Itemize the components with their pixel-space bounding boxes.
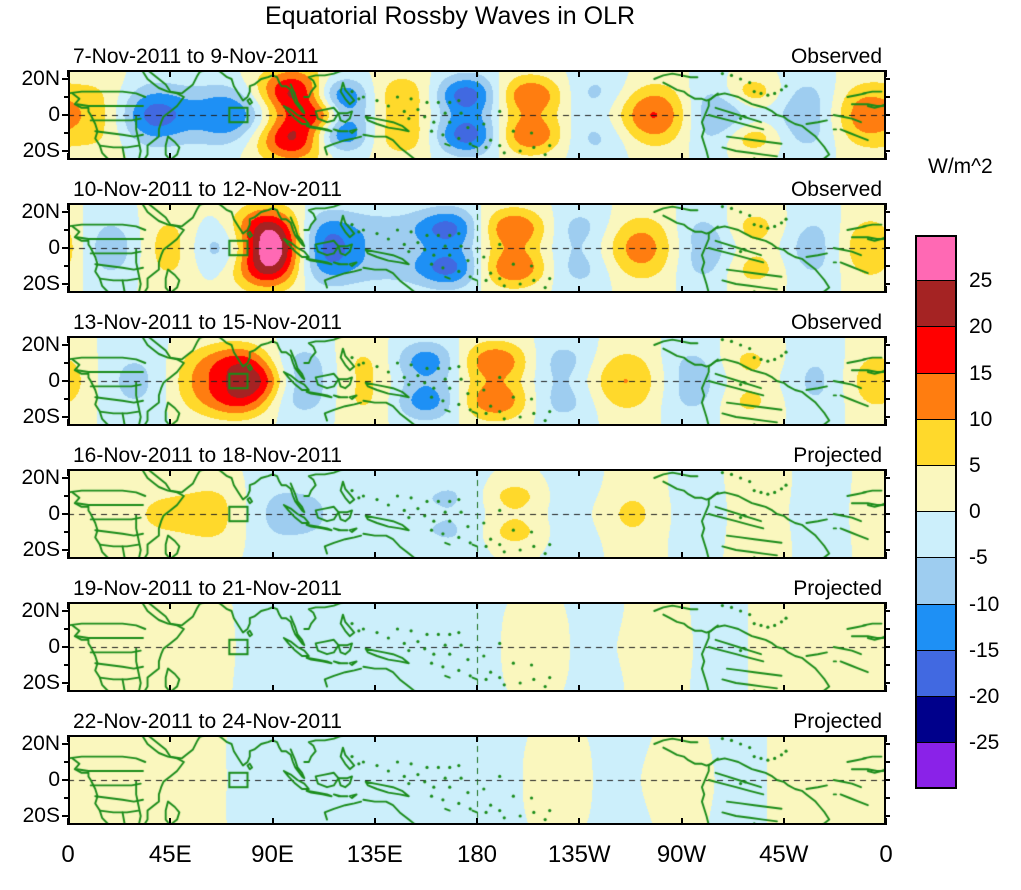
- x-axis-tick: [578, 735, 580, 742]
- y-axis-minor-tick: [64, 761, 69, 763]
- x-axis-tick: [67, 286, 69, 293]
- colorbar-swatch: [915, 420, 957, 466]
- x-axis-tick: [885, 735, 887, 742]
- x-axis-tick: [885, 469, 887, 476]
- y-axis-minor-tick: [885, 610, 890, 612]
- x-axis-tick: [272, 602, 274, 609]
- x-axis-tick: [578, 602, 580, 609]
- x-axis-tick: [169, 70, 171, 77]
- y-axis-minor-tick: [64, 247, 69, 249]
- y-axis-tick-label: 20N: [0, 733, 60, 754]
- colorbar-swatch: [915, 512, 957, 558]
- x-axis-tick: [681, 286, 683, 293]
- x-axis-tick: [578, 818, 580, 825]
- y-axis-minor-tick: [885, 513, 890, 515]
- x-axis-tick: [885, 336, 887, 343]
- y-axis-minor-tick: [885, 229, 890, 231]
- figure-root: Equatorial Rossby Waves in OLR 045E90E13…: [0, 0, 1021, 890]
- y-axis-minor-tick: [64, 779, 69, 781]
- colorbar-tick-label: -25: [969, 732, 999, 753]
- x-axis-tick: [681, 818, 683, 825]
- x-axis-tick: [67, 602, 69, 609]
- x-axis-tick: [476, 602, 478, 609]
- x-axis-tick: [374, 203, 376, 210]
- colorbar-swatch: [915, 466, 957, 512]
- y-axis-minor-tick: [64, 664, 69, 666]
- y-axis-minor-tick: [885, 628, 890, 630]
- colorbar-tick-label: -20: [969, 686, 999, 707]
- y-axis-minor-tick: [64, 96, 69, 98]
- y-axis-minor-tick: [885, 779, 890, 781]
- x-axis-tick: [374, 552, 376, 559]
- y-axis-minor-tick: [64, 78, 69, 80]
- y-axis-tick-label: 0: [0, 503, 60, 524]
- x-axis-tick: [476, 70, 478, 77]
- x-axis-tick: [374, 419, 376, 426]
- colorbar-swatch: [915, 651, 957, 697]
- x-axis-tick: [681, 153, 683, 160]
- x-axis-tick: [272, 286, 274, 293]
- panel-status-label: Projected: [0, 578, 882, 599]
- x-axis-tick: [169, 469, 171, 476]
- y-axis-minor-tick: [885, 531, 890, 533]
- x-axis-tick: [476, 203, 478, 210]
- y-axis-minor-tick: [64, 283, 69, 285]
- colorbar-tick-label: 10: [969, 409, 992, 430]
- x-axis-tick: [476, 818, 478, 825]
- y-axis-minor-tick: [64, 495, 69, 497]
- x-axis-tick: [476, 419, 478, 426]
- x-axis-tick: [272, 336, 274, 343]
- colorbar-tick-label: 20: [969, 316, 992, 337]
- x-axis-tick: [169, 818, 171, 825]
- y-axis-minor-tick: [64, 797, 69, 799]
- x-axis-tick: [783, 735, 785, 742]
- y-axis-tick-label: 20N: [0, 334, 60, 355]
- y-axis-minor-tick: [64, 114, 69, 116]
- y-axis-minor-tick: [64, 211, 69, 213]
- map-panel: [68, 70, 886, 160]
- y-axis-minor-tick: [64, 132, 69, 134]
- x-axis-tick: [169, 685, 171, 692]
- colorbar-swatch: [915, 374, 957, 420]
- colorbar-tick-label: 15: [969, 363, 992, 384]
- x-axis-tick: [272, 552, 274, 559]
- y-axis-minor-tick: [64, 549, 69, 551]
- colorbar-swatch: [915, 327, 957, 373]
- x-axis-tick: [67, 419, 69, 426]
- y-axis-minor-tick: [885, 477, 890, 479]
- colorbar-swatch: [915, 558, 957, 604]
- y-axis-minor-tick: [885, 96, 890, 98]
- y-axis-minor-tick: [885, 247, 890, 249]
- x-axis-tick: [169, 203, 171, 210]
- y-axis-tick-label: 20S: [0, 273, 60, 294]
- y-axis-minor-tick: [885, 646, 890, 648]
- x-axis-tick: [783, 153, 785, 160]
- y-axis-tick-label: 0: [0, 370, 60, 391]
- panel-status-label: Observed: [0, 46, 882, 67]
- x-axis-tick: [783, 685, 785, 692]
- x-axis-tick: [885, 70, 887, 77]
- y-axis-tick-label: 20S: [0, 406, 60, 427]
- y-axis-tick-label: 20N: [0, 600, 60, 621]
- olr-contour-field: [68, 602, 886, 692]
- y-axis-minor-tick: [64, 610, 69, 612]
- x-axis-tick: [578, 286, 580, 293]
- x-axis-tick: [476, 153, 478, 160]
- x-axis-tick: [67, 203, 69, 210]
- y-axis-minor-tick: [885, 797, 890, 799]
- y-axis-minor-tick: [64, 150, 69, 152]
- x-axis-tick: [783, 70, 785, 77]
- x-axis-tick: [374, 818, 376, 825]
- x-axis-tick: [67, 735, 69, 742]
- x-axis-tick: [578, 552, 580, 559]
- y-axis-minor-tick: [64, 344, 69, 346]
- x-axis-tick: [783, 286, 785, 293]
- y-axis-minor-tick: [885, 495, 890, 497]
- panel-status-label: Projected: [0, 445, 882, 466]
- x-axis-tick: [169, 153, 171, 160]
- x-axis-tick: [885, 419, 887, 426]
- y-axis-minor-tick: [885, 114, 890, 116]
- colorbar-tick-label: -10: [969, 594, 999, 615]
- y-axis-minor-tick: [64, 398, 69, 400]
- y-axis-minor-tick: [885, 815, 890, 817]
- x-axis-tick: [272, 818, 274, 825]
- olr-contour-field: [68, 469, 886, 559]
- x-axis-tick: [681, 685, 683, 692]
- x-axis-tick: [374, 602, 376, 609]
- colorbar-swatch: [915, 281, 957, 327]
- x-axis-tick: [67, 153, 69, 160]
- y-axis-minor-tick: [885, 211, 890, 213]
- colorbar-tick-label: -15: [969, 640, 999, 661]
- x-axis-tick: [476, 735, 478, 742]
- x-axis-tick: [476, 685, 478, 692]
- x-axis-tick: [783, 336, 785, 343]
- x-axis-tick: [476, 336, 478, 343]
- y-axis-tick-label: 0: [0, 104, 60, 125]
- x-axis-tick: [681, 336, 683, 343]
- x-axis-tick: [272, 419, 274, 426]
- y-axis-minor-tick: [885, 398, 890, 400]
- x-axis-tick: [67, 818, 69, 825]
- x-axis-tick: [374, 70, 376, 77]
- y-axis-minor-tick: [885, 380, 890, 382]
- x-axis-tick: [885, 203, 887, 210]
- map-panel: [68, 735, 886, 825]
- y-axis-minor-tick: [64, 265, 69, 267]
- panel-status-label: Projected: [0, 711, 882, 732]
- x-axis-tick: [681, 602, 683, 609]
- x-axis-tick: [885, 552, 887, 559]
- x-axis-tick: [476, 286, 478, 293]
- x-axis-tick: [169, 602, 171, 609]
- y-axis-tick-label: 20S: [0, 805, 60, 826]
- x-axis-tick: [67, 552, 69, 559]
- x-axis-tick: [169, 552, 171, 559]
- x-axis-tick: [681, 419, 683, 426]
- map-panel: [68, 469, 886, 559]
- x-axis-tick: [578, 336, 580, 343]
- x-axis-tick: [783, 469, 785, 476]
- x-axis-tick: [67, 469, 69, 476]
- y-axis-tick-label: 20N: [0, 467, 60, 488]
- x-axis-tick: [681, 735, 683, 742]
- map-panel: [68, 602, 886, 692]
- y-axis-minor-tick: [885, 150, 890, 152]
- x-axis-tick: [272, 153, 274, 160]
- map-panel: [68, 203, 886, 293]
- colorbar-unit-label: W/m^2: [928, 155, 993, 179]
- x-axis-tick: [67, 336, 69, 343]
- x-axis-tick: [783, 818, 785, 825]
- y-axis-minor-tick: [64, 628, 69, 630]
- panel-status-label: Observed: [0, 312, 882, 333]
- olr-contour-field: [68, 735, 886, 825]
- x-axis-tick: [885, 602, 887, 609]
- x-axis-tick: [578, 153, 580, 160]
- x-axis-tick: [578, 203, 580, 210]
- olr-contour-field: [68, 70, 886, 160]
- y-axis-minor-tick: [885, 283, 890, 285]
- colorbar-tick-label: 0: [969, 501, 981, 522]
- colorbar-tick-label: 25: [969, 270, 992, 291]
- x-axis-tick: [272, 735, 274, 742]
- x-axis-tick: [681, 552, 683, 559]
- x-axis-tick: [578, 70, 580, 77]
- y-axis-minor-tick: [885, 344, 890, 346]
- x-axis-tick: [578, 685, 580, 692]
- olr-contour-field: [68, 203, 886, 293]
- y-axis-tick-label: 20S: [0, 140, 60, 161]
- y-axis-tick-label: 20N: [0, 68, 60, 89]
- page-title: Equatorial Rossby Waves in OLR: [0, 2, 900, 31]
- x-axis-tick: [681, 469, 683, 476]
- y-axis-minor-tick: [64, 815, 69, 817]
- x-axis-tick: [272, 203, 274, 210]
- y-axis-minor-tick: [64, 743, 69, 745]
- map-panel: [68, 336, 886, 426]
- y-axis-tick-label: 0: [0, 237, 60, 258]
- x-axis-tick: [783, 602, 785, 609]
- colorbar-swatch: [915, 697, 957, 743]
- x-axis-tick: [67, 70, 69, 77]
- x-axis-tick: [578, 419, 580, 426]
- y-axis-minor-tick: [64, 531, 69, 533]
- y-axis-minor-tick: [64, 682, 69, 684]
- y-axis-minor-tick: [64, 416, 69, 418]
- x-axis-tick: [681, 203, 683, 210]
- colorbar-tick-label: -5: [969, 547, 988, 568]
- y-axis-minor-tick: [885, 78, 890, 80]
- x-axis-tick: [578, 469, 580, 476]
- y-axis-minor-tick: [885, 664, 890, 666]
- y-axis-minor-tick: [64, 380, 69, 382]
- y-axis-minor-tick: [64, 513, 69, 515]
- x-axis-tick: [783, 552, 785, 559]
- x-axis-tick: [374, 153, 376, 160]
- y-axis-tick-label: 20S: [0, 672, 60, 693]
- y-axis-minor-tick: [64, 646, 69, 648]
- x-axis-tick: [169, 735, 171, 742]
- y-axis-minor-tick: [64, 477, 69, 479]
- x-axis-tick: [681, 70, 683, 77]
- y-axis-minor-tick: [885, 549, 890, 551]
- colorbar-swatch: [915, 605, 957, 651]
- colorbar: W/m^2 2520151050-5-10-15-20-25: [915, 0, 1021, 890]
- x-axis-tick: [272, 685, 274, 692]
- x-axis-tick: [783, 419, 785, 426]
- x-axis-tick: [476, 552, 478, 559]
- y-axis-tick-label: 20S: [0, 539, 60, 560]
- y-axis-minor-tick: [885, 761, 890, 763]
- x-axis-tick: [67, 685, 69, 692]
- y-axis-minor-tick: [64, 229, 69, 231]
- colorbar-swatch: [915, 743, 957, 789]
- olr-contour-field: [68, 336, 886, 426]
- y-axis-minor-tick: [885, 743, 890, 745]
- x-axis-tick: [783, 203, 785, 210]
- x-axis-tick: [885, 818, 887, 825]
- panel-status-label: Observed: [0, 179, 882, 200]
- x-axis-tick: [885, 685, 887, 692]
- x-axis-tick: [476, 469, 478, 476]
- x-axis-tick: [374, 336, 376, 343]
- colorbar-tick-label: 5: [969, 455, 981, 476]
- y-axis-minor-tick: [64, 362, 69, 364]
- x-axis-tick: [272, 70, 274, 77]
- y-axis-tick-label: 0: [0, 769, 60, 790]
- y-axis-minor-tick: [885, 132, 890, 134]
- colorbar-swatch: [915, 235, 957, 281]
- y-axis-minor-tick: [885, 682, 890, 684]
- y-axis-tick-label: 20N: [0, 201, 60, 222]
- y-axis-minor-tick: [885, 362, 890, 364]
- x-axis-tick: [169, 286, 171, 293]
- x-axis-tick: [885, 286, 887, 293]
- y-axis-minor-tick: [885, 265, 890, 267]
- x-axis-tick: [885, 153, 887, 160]
- x-axis-tick: [169, 336, 171, 343]
- x-axis-tick: [272, 469, 274, 476]
- x-axis-tick: [374, 469, 376, 476]
- x-axis-tick: [169, 419, 171, 426]
- y-axis-tick-label: 0: [0, 636, 60, 657]
- x-axis-tick: [374, 286, 376, 293]
- x-axis-tick: [374, 685, 376, 692]
- x-axis-tick: [374, 735, 376, 742]
- y-axis-minor-tick: [885, 416, 890, 418]
